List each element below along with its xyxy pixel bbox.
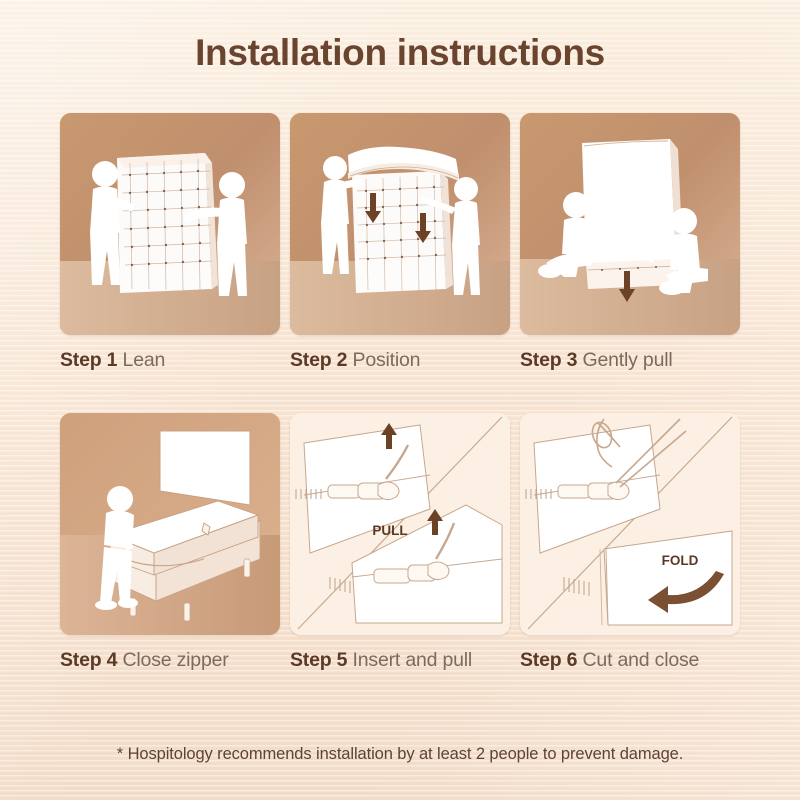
- step-caption-4: Step 4 Close zipper: [60, 648, 280, 698]
- step-illustration-5: PULL: [290, 413, 510, 635]
- mattress: [117, 153, 218, 293]
- step-description-2: Position: [353, 349, 421, 371]
- step-card-4: Step 4 Close zipper: [60, 413, 280, 698]
- step-number-4: Step 4: [60, 649, 117, 671]
- step-number-5: Step 5: [290, 649, 347, 671]
- step-caption-6: Step 6 Cut and close: [520, 648, 740, 698]
- step-description-4: Close zipper: [123, 649, 229, 671]
- covered-mattress: [582, 139, 683, 289]
- step-illustration-3: [520, 113, 740, 335]
- step-illustration-2: [290, 113, 510, 335]
- step-caption-1: Step 1 Lean: [60, 348, 280, 373]
- step-caption-2: Step 2 Position: [290, 348, 510, 373]
- step-number-1: Step 1: [60, 349, 117, 371]
- step-description-5: Insert and pull: [353, 649, 473, 671]
- row-divider: [60, 397, 740, 398]
- step-card-1: Step 1 Lean: [60, 113, 280, 373]
- step-illustration-1: [60, 113, 280, 335]
- steps-row-top: Step 1 Lean: [60, 113, 740, 373]
- step-card-2: Step 2 Position: [290, 113, 510, 373]
- step-description-3: Gently pull: [583, 349, 673, 371]
- page-title: Installation instructions: [0, 32, 800, 74]
- steps-grid: Step 1 Lean: [60, 113, 740, 698]
- step-caption-5: Step 5 Insert and pull: [290, 648, 510, 698]
- fold-label: FOLD: [662, 553, 699, 568]
- step-number-3: Step 3: [520, 349, 577, 371]
- step-card-5: PULL Step 5 Insert and pull: [290, 413, 510, 698]
- infographic-page: Installation instructions: [0, 0, 800, 800]
- step-illustration-4: [60, 413, 280, 635]
- step-card-6: FOLD Step 6 Cut and close: [520, 413, 740, 698]
- pull-label: PULL: [372, 523, 407, 538]
- mattress: [352, 171, 453, 293]
- step-illustration-6: FOLD: [520, 413, 740, 635]
- step-description-1: Lean: [123, 349, 166, 371]
- step-card-3: Step 3 Gently pull: [520, 113, 740, 373]
- step-number-2: Step 2: [290, 349, 347, 371]
- footnote-text: * Hospitology recommends installation by…: [0, 745, 800, 764]
- step-caption-3: Step 3 Gently pull: [520, 348, 740, 373]
- steps-row-bottom: Step 4 Close zipper: [60, 413, 740, 698]
- step-description-6: Cut and close: [583, 649, 700, 671]
- step-number-6: Step 6: [520, 649, 577, 671]
